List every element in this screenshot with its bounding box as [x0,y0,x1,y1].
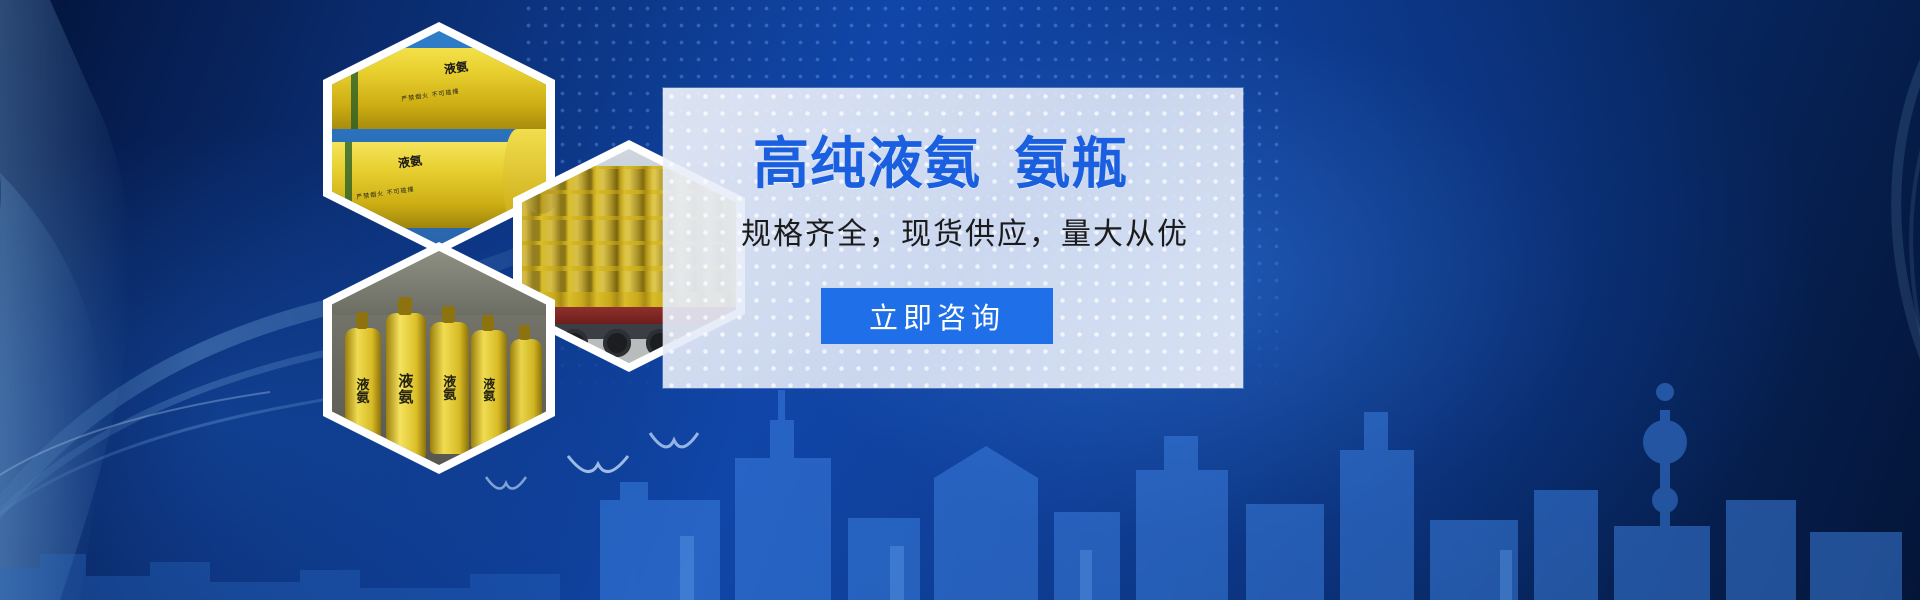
skyline-left-silhouette [0,450,560,600]
promo-banner: 液氨 严禁烟火 不可碰撞 液氨 严禁烟火 不可碰撞 [0,0,1920,600]
consult-now-button[interactable]: 立即咨询 [821,288,1053,344]
content-panel: 高纯液氨 氨瓶 规格齐全，现货供应，量大从优 立即咨询 [663,88,1243,388]
bird-chevron-icon [566,452,630,480]
bird-chevron-icon [648,430,700,454]
subtitle: 规格齐全，现货供应，量大从优 [741,220,1189,250]
page-title: 高纯液氨 氨瓶 [753,136,1128,192]
bird-chevron-icon [484,474,528,494]
